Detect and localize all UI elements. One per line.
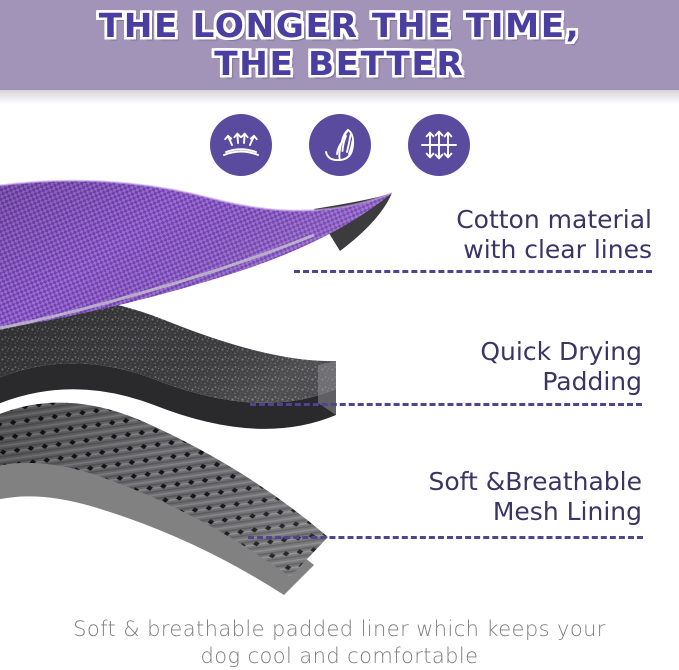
layer-label-mesh: Soft &Breathable Mesh Lining xyxy=(300,467,642,527)
header-banner: THE LONGER THE TIME, THE BETTER xyxy=(0,0,679,90)
page-title-line-1: THE LONGER THE TIME, xyxy=(99,7,581,45)
leader-line-mesh xyxy=(248,536,643,539)
layer-label-cotton: Cotton material with clear lines xyxy=(330,205,652,265)
header-drop-shadow xyxy=(0,90,679,104)
leader-line-cotton xyxy=(294,270,652,273)
layer-label-padding: Quick Drying Padding xyxy=(330,337,642,397)
bottom-caption: Soft & breathable padded liner which kee… xyxy=(0,616,679,670)
layer-mesh-lining xyxy=(0,403,328,595)
page-title-line-2: THE BETTER xyxy=(214,45,464,83)
leader-line-padding xyxy=(250,403,642,406)
